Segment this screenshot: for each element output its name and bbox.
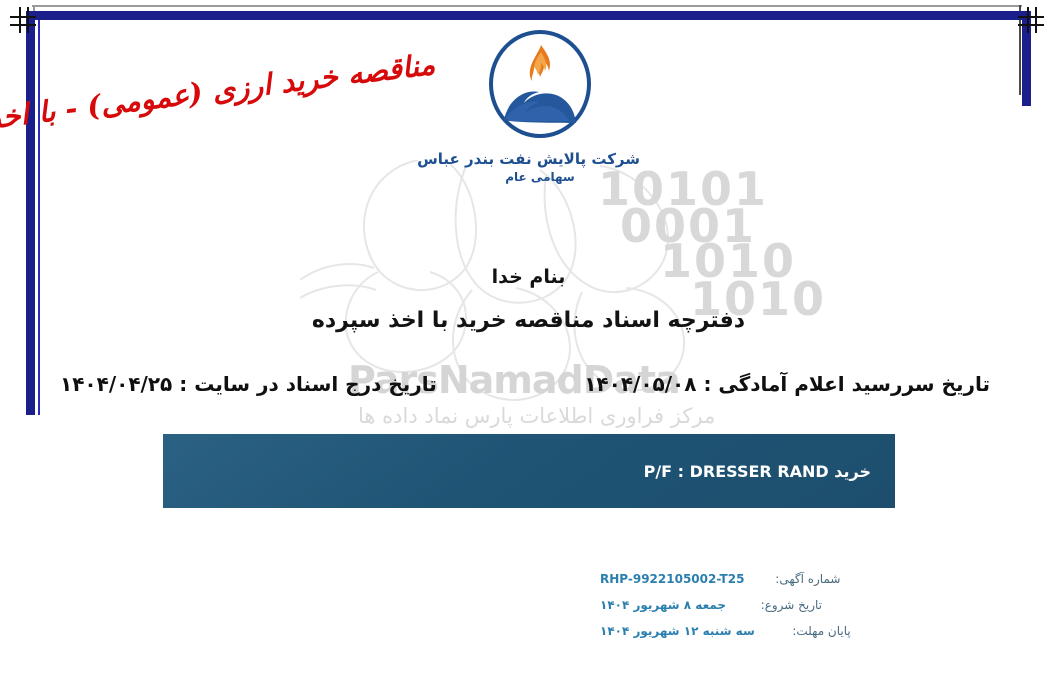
start-date-label: تاریخ شروع: <box>740 598 822 612</box>
publish-date: تاریخ درج اسناد در سایت : ۱۴۰۴/۰۴/۲۵ <box>60 372 437 396</box>
tender-title-banner[interactable]: خرید P/F : DRESSER RAND <box>163 434 895 508</box>
document-border-navy-top <box>26 11 1031 20</box>
corner-ornament-top-left-icon <box>10 7 40 37</box>
tender-meta-block: شماره آگهی: RHP-9922105002-T25 تاریخ شرو… <box>600 572 930 650</box>
corner-ornament-top-right-icon <box>1018 7 1048 37</box>
company-logo-block: شرکت پالایش نفت بندر عباس سهامی عام <box>440 28 640 184</box>
start-date-value: جمعه ۸ شهریور ۱۴۰۴ <box>600 598 726 612</box>
publish-date-label: تاریخ درج اسناد در سایت : <box>179 372 437 396</box>
company-type-label: سهامی عام <box>440 170 640 184</box>
readiness-deadline-date: تاریخ سررسید اعلام آمادگی : ۱۴۰۴/۰۵/۰۸ <box>584 372 990 396</box>
meta-row-deadline: پایان مهلت: سه شنبه ۱۲ شهریور ۱۴۰۴ <box>600 624 930 638</box>
meta-row-start-date: تاریخ شروع: جمعه ۸ شهریور ۱۴۰۴ <box>600 598 930 612</box>
tender-title-text: خرید P/F : DRESSER RAND <box>644 462 871 481</box>
document-border-grey-top <box>32 5 1022 7</box>
document-border-navy-inner-left <box>38 20 40 415</box>
announcement-number-label: شماره آگهی: <box>758 572 840 586</box>
document-dates-row: تاریخ درج اسناد در سایت : ۱۴۰۴/۰۴/۲۵ تار… <box>60 372 990 396</box>
document-border-navy-left <box>26 11 35 415</box>
company-name-label: شرکت پالایش نفت بندر عباس <box>440 150 640 168</box>
bismillah-heading: بنام خدا <box>0 266 1057 288</box>
publish-date-value: ۱۴۰۴/۰۴/۲۵ <box>60 372 172 396</box>
readiness-deadline-label: تاریخ سررسید اعلام آمادگی : <box>703 372 990 396</box>
scanned-document-image: مناقصه خرید ارزی (عمومی) - با اخذ سپرده … <box>0 0 1057 419</box>
readiness-deadline-value: ۱۴۰۴/۰۵/۰۸ <box>584 372 696 396</box>
handwritten-annotation: مناقصه خرید ارزی (عمومی) - با اخذ سپرده <box>36 48 445 191</box>
deadline-label: پایان مهلت: <box>769 624 851 638</box>
announcement-number-value: RHP-9922105002-T25 <box>600 572 744 586</box>
refinery-flame-wave-logo-icon <box>484 28 596 146</box>
meta-row-announcement-number: شماره آگهی: RHP-9922105002-T25 <box>600 572 930 586</box>
document-title-heading: دفترچه اسناد مناقصه خرید با اخذ سپرده <box>0 308 1057 333</box>
deadline-value: سه شنبه ۱۲ شهریور ۱۴۰۴ <box>600 624 755 638</box>
